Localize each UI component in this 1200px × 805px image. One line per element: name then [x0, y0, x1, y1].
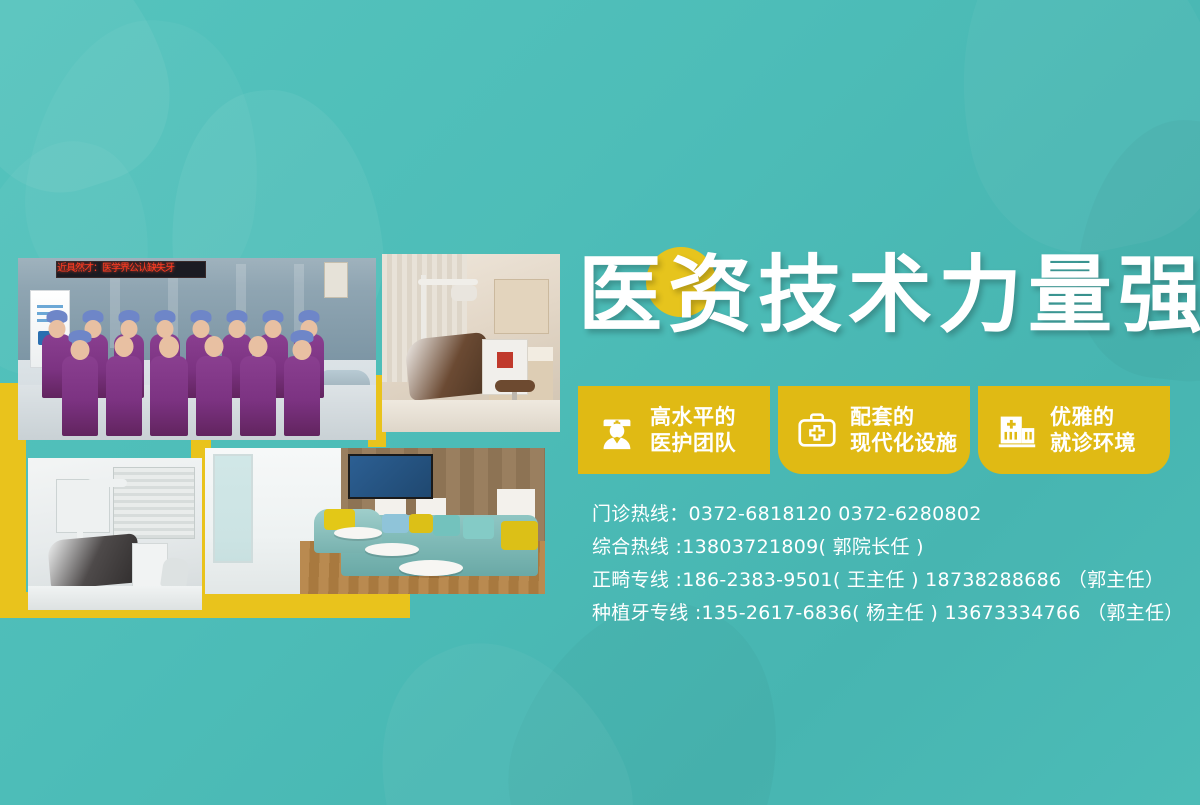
feature-badges: 高水平的 医护团队 配套的 现代化设施 [578, 386, 1170, 474]
storefront-sign [324, 262, 348, 298]
pillow-yellow-2 [409, 514, 433, 533]
equipment-photo [28, 458, 202, 610]
contact-line-implant: 种植牙专线 :135-2617-6836( 杨主任 ) 13673334766 … [592, 597, 1172, 630]
pillow-teal-1 [433, 515, 460, 535]
pillow-blue-1 [382, 514, 409, 533]
badge-medical-team[interactable]: 高水平的 医护团队 [578, 386, 770, 474]
lounge-photo [205, 448, 545, 594]
pillow-yellow-3 [501, 521, 538, 550]
led-banner: 近具然才：医学界公认缺失牙 [56, 261, 206, 278]
hospital-building-icon [994, 407, 1040, 453]
photo-collage: 近具然才：医学界公认缺失牙 [0, 0, 560, 640]
badge-line-2: 医护团队 [650, 430, 736, 456]
clinic-promo-banner: 近具然才：医学界公认缺失牙 [0, 0, 1200, 805]
badge-text: 优雅的 就诊环境 [1050, 404, 1136, 456]
contact-line-outpatient: 门诊热线：0372-6818120 0372-6280802 [592, 498, 1172, 531]
page-title: 医资技术力量强 [578, 245, 1178, 345]
badge-line-1: 高水平的 [650, 404, 736, 430]
clinic-room-photo [382, 254, 560, 432]
contact-line-general: 综合热线 :13803721809( 郭院长任 ) [592, 531, 1172, 564]
coffee-table-1 [334, 527, 382, 539]
led-banner-text: 近具然才：医学界公认缺失牙 [57, 262, 205, 275]
nurse-icon [594, 407, 640, 453]
medical-case-icon [794, 407, 840, 453]
pillow-teal-2 [463, 517, 494, 539]
badge-text: 配套的 现代化设施 [850, 404, 958, 456]
headline-block: 医资技术力量强 [578, 245, 1178, 365]
tooth-watermark-6 [929, 0, 1200, 273]
wall-tv [348, 454, 434, 499]
badge-text: 高水平的 医护团队 [650, 404, 736, 456]
team-photo: 近具然才：医学界公认缺失牙 [18, 258, 376, 440]
badge-line-2: 就诊环境 [1050, 430, 1136, 456]
contact-list: 门诊热线：0372-6818120 0372-6280802 综合热线 :138… [592, 498, 1172, 630]
coffee-table-2 [365, 543, 419, 556]
badge-line-1: 优雅的 [1050, 404, 1136, 430]
badge-line-1: 配套的 [850, 404, 958, 430]
badge-elegant-environment[interactable]: 优雅的 就诊环境 [978, 386, 1170, 474]
contact-line-orthodontics: 正畸专线 :186-2383-9501( 王主任 ) 18738288686 （… [592, 564, 1172, 597]
badge-modern-facilities[interactable]: 配套的 现代化设施 [778, 386, 970, 474]
badge-line-2: 现代化设施 [850, 430, 958, 456]
